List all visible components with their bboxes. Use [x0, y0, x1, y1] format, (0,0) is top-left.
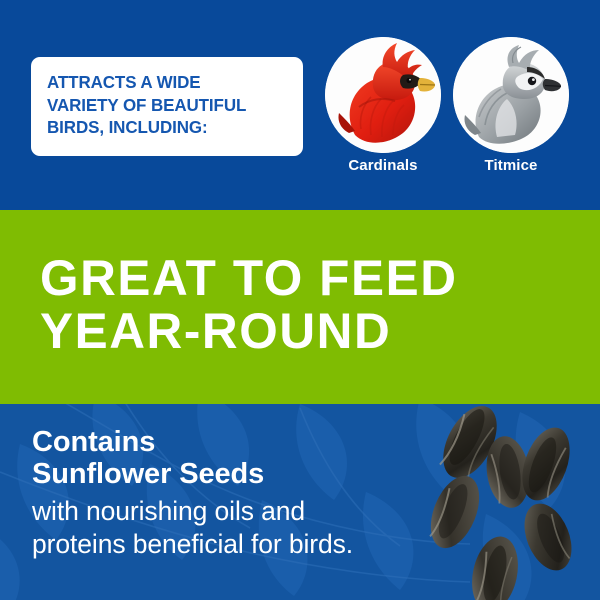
- bird-label-titmice: Titmice: [431, 157, 591, 174]
- attracts-callout-text: ATTRACTS A WIDE VARIETY OF BEAUTIFUL BIR…: [47, 71, 280, 139]
- attracts-birds-panel: ATTRACTS A WIDE VARIETY OF BEAUTIFUL BIR…: [0, 0, 600, 210]
- bird-medallion-cardinal: Cardinals: [325, 37, 441, 153]
- titmouse-illustration: [453, 37, 569, 153]
- attracts-callout-box: ATTRACTS A WIDE VARIETY OF BEAUTIFUL BIR…: [31, 57, 303, 156]
- sunflower-seeds-panel: Contains Sunflower Seeds with nourishing…: [0, 404, 600, 600]
- year-round-panel: GREAT TO FEED YEAR-ROUND: [0, 210, 600, 404]
- titmouse-bird-icon: [453, 37, 569, 153]
- cardinal-bird-icon: [325, 37, 441, 153]
- bird-medallion-titmouse: Titmice: [453, 37, 569, 153]
- cardinal-illustration: [325, 37, 441, 153]
- product-feature-banner: ATTRACTS A WIDE VARIETY OF BEAUTIFUL BIR…: [0, 0, 600, 600]
- sunflower-copy-block: Contains Sunflower Seeds with nourishing…: [32, 426, 432, 561]
- sunflower-headline: Contains Sunflower Seeds: [32, 426, 432, 490]
- sunflower-body-text: with nourishing oils and proteins benefi…: [32, 495, 432, 561]
- year-round-heading: GREAT TO FEED YEAR-ROUND: [40, 252, 458, 358]
